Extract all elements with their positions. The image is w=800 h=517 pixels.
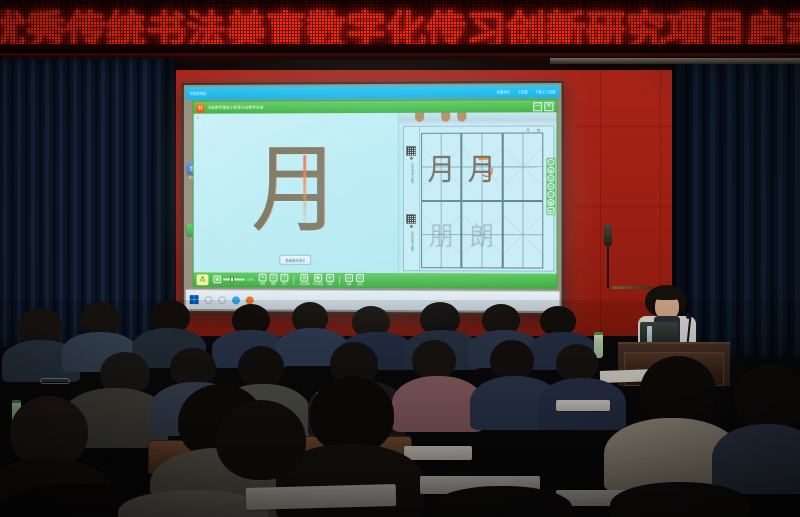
browser-tab-label[interactable]: 学而思网校: [190, 91, 207, 96]
audience-head: [490, 340, 534, 380]
led-banner-text: 优秀传统书法美育数字化传习创新研究项目启动暨: [0, 2, 800, 52]
grid-cell-character: 月: [464, 134, 500, 200]
eyeglasses: [40, 378, 70, 384]
grid-cell-character: 月: [424, 134, 460, 200]
audience-head: [734, 364, 800, 430]
wall-speaker: [604, 224, 612, 246]
qr-code-icon[interactable]: [406, 145, 416, 155]
video-tool-label: 示范视频: [299, 282, 309, 286]
share-tool-icon[interactable]: ➤: [326, 274, 334, 282]
calligraphy-app-window: 书 书画教学课堂小练笔书法教学系统 — ✕ 1 月 笔画顺序演示: [193, 99, 558, 289]
led-banner: 优秀传统书法美育数字化传习创新研究项目启动暨: [0, 0, 800, 56]
window-controls: — ✕: [533, 102, 554, 111]
shape-tool-label: 图形: [271, 282, 276, 286]
worksheet-qr-block[interactable]: ★ 扫码看书写视频: [406, 145, 416, 182]
exit-tool-icon[interactable]: ⏻: [356, 274, 364, 282]
share-tool-button[interactable]: ➤ 投屏: [326, 274, 334, 287]
toolbox-label[interactable]: 工具箱: [517, 89, 527, 94]
brand-button[interactable]: ▦ 书法: [197, 274, 209, 285]
orange-correction-mark: [478, 157, 488, 160]
text-tool-label: 文字: [282, 282, 287, 286]
toolbar-divider: [294, 275, 295, 284]
select-tool-icon[interactable]: ▣: [213, 275, 221, 283]
grid-cell-character: [505, 133, 541, 199]
video-tool-button[interactable]: ▤ 示范视频: [299, 273, 309, 286]
capture-tool-label: 作业采集: [313, 282, 323, 286]
bookmarks-bar-label[interactable]: 收藏夹栏: [497, 89, 511, 94]
worksheet-grid[interactable]: 月 月 朋: [421, 132, 543, 268]
minimize-button[interactable]: —: [533, 102, 542, 111]
browser-topbar-right: 收藏夹栏 工具箱 下载从工具箱: [497, 89, 556, 94]
zoom-slider-knob[interactable]: [230, 276, 234, 282]
seat-writing-board: [556, 400, 610, 411]
audience-head: [412, 340, 456, 380]
page-tool-icon[interactable]: ▭: [345, 274, 353, 282]
worksheet-side-label: 扫码看书写视频: [409, 163, 413, 183]
presenter-bangs: [653, 290, 681, 300]
worksheet-toolstrip[interactable]: i ◉ ◎ ↻ ◌ ▦ ▶: [546, 157, 555, 215]
audience-head: [310, 376, 394, 454]
grid-cell[interactable]: [502, 132, 543, 200]
curtain-rail: [550, 58, 800, 64]
app-title: 书画教学课堂小练笔书法教学系统: [207, 105, 263, 110]
star-icon: ★: [409, 225, 413, 230]
seat-writing-board: [246, 484, 397, 510]
shape-tool-icon[interactable]: ◻: [270, 273, 278, 281]
pen-tool-icon[interactable]: ✎: [259, 273, 267, 281]
worksheet-side-label: 扫码看书写视频: [409, 231, 413, 251]
large-character-display: 月: [251, 144, 341, 236]
microphone-stand: [607, 246, 609, 288]
app-body: 1 月 笔画顺序演示 月 · 肉: [194, 112, 557, 273]
audience-shoulders: [712, 424, 800, 494]
download-label[interactable]: 下载从工具箱: [535, 89, 556, 94]
worksheet-pane[interactable]: 月 · 肉 ★ 扫码看书写视频 ★ 扫码看书写: [399, 112, 557, 273]
star-icon: ★: [409, 157, 413, 162]
character-preview-pane[interactable]: 1 月 笔画顺序演示: [194, 113, 399, 273]
target-tool-icon[interactable]: ◎: [548, 175, 555, 182]
text-tool-button[interactable]: T 文字: [281, 273, 289, 285]
zoom-value: 100%: [247, 278, 254, 282]
audience-head: [216, 400, 306, 480]
seat-writing-board: [404, 446, 472, 460]
browser-topbar: 学而思网校 收藏夹栏 工具箱 下载从工具箱: [186, 85, 560, 100]
stroke-order-button[interactable]: 笔画顺序演示: [279, 255, 311, 265]
grid-cell[interactable]: 朋: [421, 201, 462, 269]
pen-tool-label: 画笔: [260, 282, 265, 286]
conference-hall-photo: 优秀传统书法美育数字化传习创新研究项目启动暨 ▤ 此电脑 ↓ 下载: [0, 0, 800, 517]
grid-cell-character: 朗: [464, 202, 500, 268]
record-tool-icon[interactable]: ◉: [548, 167, 555, 174]
exit-tool-button[interactable]: ⏻ 退出: [356, 274, 364, 287]
audience-head: [640, 356, 716, 426]
page-tool-button[interactable]: ▭ 课本: [345, 274, 353, 287]
page-tool-label: 课本: [346, 282, 351, 286]
grid-cell[interactable]: 月: [421, 133, 462, 201]
qr-code-icon[interactable]: [406, 214, 416, 224]
info-tool-icon[interactable]: i: [548, 159, 555, 166]
shape-tool-button[interactable]: ◻ 图形: [270, 273, 278, 285]
app-logo-icon: 书: [196, 103, 205, 112]
toolbar-end-group: ▭ 课本 ⏻ 退出: [345, 274, 364, 287]
zoom-slider[interactable]: ▣ 100%: [213, 275, 254, 283]
worksheet-side-column: ★ 扫码看书写视频 ★ 扫码看书写视频: [404, 127, 420, 270]
audience-head: [238, 346, 284, 388]
worksheet-sheet: 月 · 肉 ★ 扫码看书写视频 ★ 扫码看书写: [403, 125, 555, 271]
projection-screen: ▤ 此电脑 ↓ 下载 学而思网校 收藏夹栏 工具箱 下载从工具箱: [182, 81, 564, 315]
grid-tool-icon[interactable]: ▦: [548, 199, 555, 206]
exit-tool-label: 退出: [357, 282, 362, 286]
grid-cell[interactable]: 月: [462, 133, 503, 201]
close-button[interactable]: ✕: [544, 102, 553, 111]
eraser-tool-icon[interactable]: ◌: [548, 191, 555, 198]
audience-area: [0, 300, 800, 517]
audience-head: [556, 344, 598, 382]
video-tool-icon[interactable]: ▤: [301, 273, 309, 281]
capture-tool-icon[interactable]: ▣: [314, 274, 322, 282]
capture-tool-button[interactable]: ▣ 作业采集: [313, 274, 323, 287]
toolbar-left-group: ✎ 画笔 ◻ 图形 T 文字: [259, 273, 289, 286]
grid-cell-character: [505, 202, 541, 268]
rotate-tool-icon[interactable]: ↻: [548, 183, 555, 190]
app-logo-glyph: 书: [198, 104, 203, 111]
grid-cell-character: 朋: [424, 202, 460, 268]
text-tool-icon[interactable]: T: [281, 273, 289, 281]
app-bottom-toolbar: ▦ 书法 ▣ 100% ✎ 画笔: [194, 272, 557, 287]
page-number: 1: [197, 116, 199, 120]
worksheet-qr-block[interactable]: ★ 扫码看书写视频: [406, 214, 416, 251]
grid-cell[interactable]: 朗: [462, 201, 503, 269]
projection-screen-surface: ▤ 此电脑 ↓ 下载 学而思网校 收藏夹栏 工具箱 下载从工具箱: [184, 83, 562, 313]
audience-shoulders: [432, 486, 572, 517]
stroke-highlight-overlay: [303, 155, 306, 228]
brand-button-label: 书法: [200, 279, 206, 282]
grid-cell[interactable]: [502, 201, 543, 269]
pen-tool-button[interactable]: ✎ 画笔: [259, 273, 267, 285]
toolbar-right-group: ▤ 示范视频 ▣ 作业采集 ➤ 投屏: [299, 273, 334, 286]
toolbar-divider: [339, 275, 340, 284]
play-tool-icon[interactable]: ▶: [548, 207, 555, 214]
share-tool-label: 投屏: [327, 282, 332, 286]
zoom-slider-track[interactable]: [223, 278, 245, 280]
